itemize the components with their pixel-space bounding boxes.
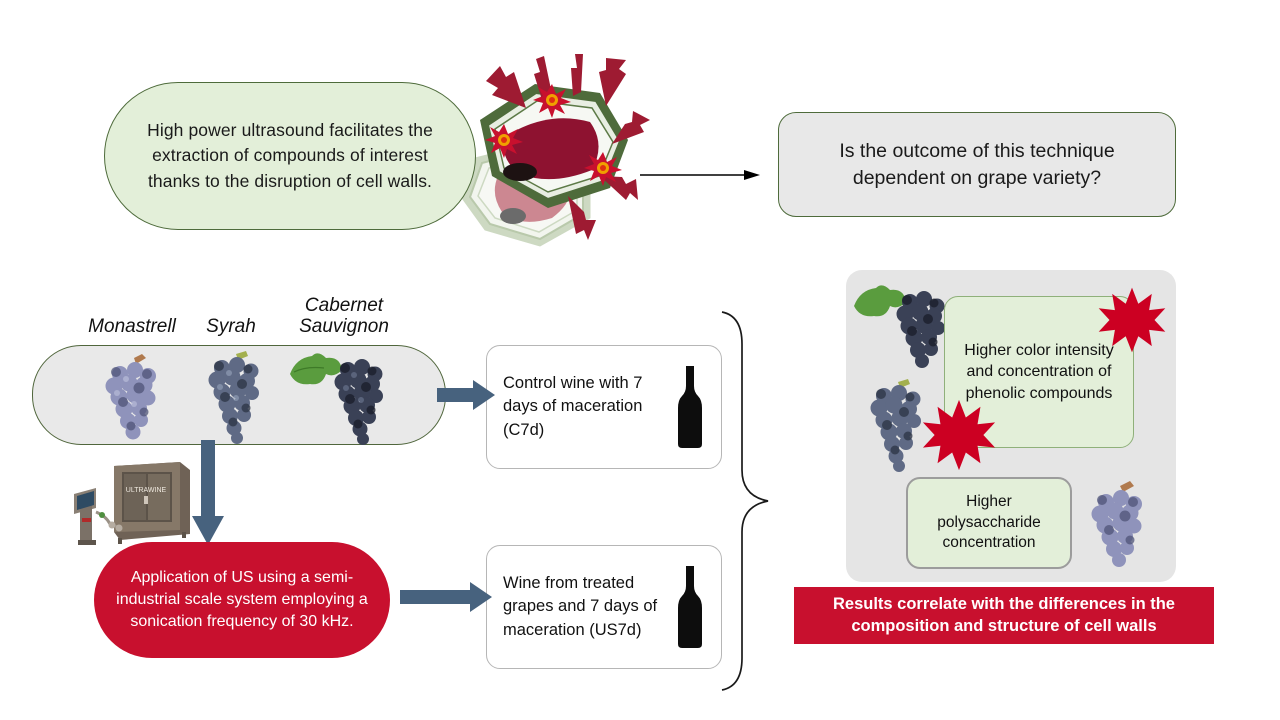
wine-bottle-icon-control (667, 364, 713, 450)
research-question-box: Is the outcome of this technique depende… (778, 112, 1176, 217)
arrow-to-question-icon (640, 168, 760, 180)
results-grape-bunch-monastrell (1078, 480, 1162, 576)
arrow-to-ultrasound-treatment-icon (190, 440, 226, 545)
premise-statement-box: High power ultrasound facilitates the ex… (104, 82, 476, 230)
grape-bunch-syrah (196, 350, 278, 448)
results-grape-bunch-cabernet (852, 282, 958, 378)
ultrasound-application-box: Application of US using a semi-industria… (94, 542, 390, 658)
result-polysaccharide-box: Higher polysaccharide concentration (906, 477, 1072, 569)
control-wine-box: Control wine with 7 days of maceration (… (486, 345, 722, 469)
arrow-to-treated-wine-icon (400, 580, 492, 614)
result-polysaccharide-text: Higher polysaccharide concentration (916, 492, 1062, 554)
control-wine-text: Control wine with 7 days of maceration (… (503, 372, 667, 442)
treated-wine-box: Wine from treated grapes and 7 days of m… (486, 545, 722, 669)
variety-label-monastrell: Monastrell (62, 316, 202, 337)
ultrawine-machine-photo: ULTRAWINE (62, 458, 194, 548)
arrow-to-control-wine-icon (437, 378, 495, 412)
ultrasound-application-text: Application of US using a semi-industria… (116, 567, 368, 632)
wine-bottle-icon-treated (667, 564, 713, 650)
conclusion-banner: Results correlate with the differences i… (794, 587, 1214, 644)
starburst-icon-top-right (1096, 284, 1168, 356)
treated-wine-text: Wine from treated grapes and 7 days of m… (503, 572, 667, 642)
graphical-abstract-canvas: High power ultrasound facilitates the ex… (0, 0, 1280, 720)
results-curly-brace-icon (716, 310, 776, 692)
variety-label-cabernet-sauvignon: Cabernet Sauvignon (280, 295, 408, 338)
research-question-text: Is the outcome of this technique depende… (799, 138, 1155, 192)
variety-label-syrah: Syrah (185, 316, 277, 337)
grape-leaf-icon (290, 353, 342, 384)
ultrawine-brand-text: ULTRAWINE (126, 487, 167, 494)
starburst-icon-middle-left (920, 396, 998, 474)
grape-bunch-cabernet-sauvignon (286, 348, 396, 448)
grape-bunch-monastrell (90, 352, 174, 448)
conclusion-text: Results correlate with the differences i… (804, 594, 1204, 638)
premise-text: High power ultrasound facilitates the ex… (131, 118, 449, 195)
